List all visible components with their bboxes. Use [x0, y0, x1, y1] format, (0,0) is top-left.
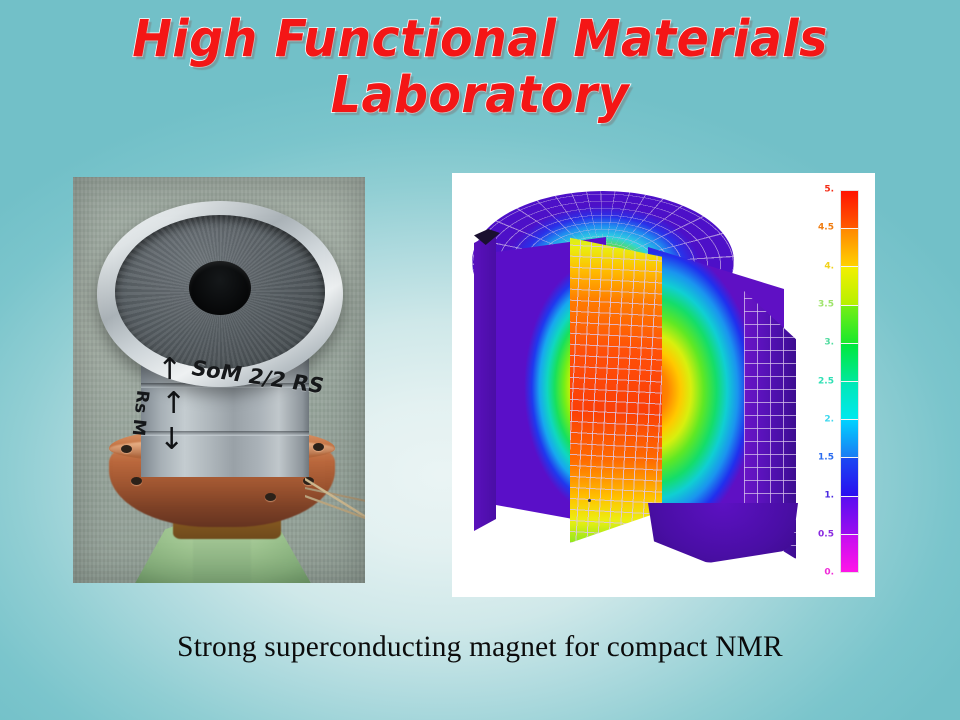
- colorbar-band: [841, 306, 858, 344]
- sim-origin-marker: [588, 499, 591, 502]
- simulation-figure: 5.4.54.3.53.2.52.1.51.0.50.: [452, 173, 875, 597]
- colorbar-band: [841, 229, 858, 267]
- colorbar-tick-label: 2.: [808, 415, 834, 424]
- colorbar-tick-label: 0.: [808, 569, 834, 578]
- colorbar-band: [841, 420, 858, 458]
- slide-canvas: High Functional Materials Laboratory SoM…: [0, 0, 960, 720]
- sim-bore-wall-mesh: [570, 225, 662, 543]
- colorbar-band: [841, 535, 858, 572]
- title-line-2: Laboratory: [34, 70, 927, 122]
- colorbar-tick-label: 1.5: [808, 454, 834, 463]
- colorbar-tick-label: 3.5: [808, 300, 834, 309]
- colorbar-tick-label: 2.5: [808, 377, 834, 386]
- colorbar-tick-label: 4.5: [808, 224, 834, 233]
- colorbar-tick-label: 3.: [808, 339, 834, 348]
- photo-vignette: [73, 177, 365, 583]
- colorbar-band: [841, 344, 858, 382]
- title-line-1: High Functional Materials: [34, 14, 927, 66]
- slide-caption: Strong superconducting magnet for compac…: [10, 630, 951, 664]
- sim-outer-wall-left: [474, 231, 496, 531]
- colorbar-band: [841, 382, 858, 420]
- colorbar-band: [841, 458, 858, 496]
- colorbar-gradient: [840, 190, 859, 573]
- colorbar-legend: 5.4.54.3.53.2.52.1.51.0.50.: [818, 183, 866, 583]
- colorbar-band: [841, 191, 858, 229]
- colorbar-tick-label: 5.: [808, 186, 834, 195]
- colorbar-tick-label: 4.: [808, 262, 834, 271]
- colorbar-tick-label: 0.5: [808, 530, 834, 539]
- colorbar-band: [841, 267, 858, 305]
- magnet-photo: SoM 2/2 RS Rs M ↑ ↑ ↓: [73, 177, 365, 583]
- colorbar-tick-label: 1.: [808, 492, 834, 501]
- sim-cylinder-bottom: [648, 503, 798, 563]
- colorbar-band: [841, 497, 858, 535]
- page-title: High Functional Materials Laboratory: [0, 14, 960, 122]
